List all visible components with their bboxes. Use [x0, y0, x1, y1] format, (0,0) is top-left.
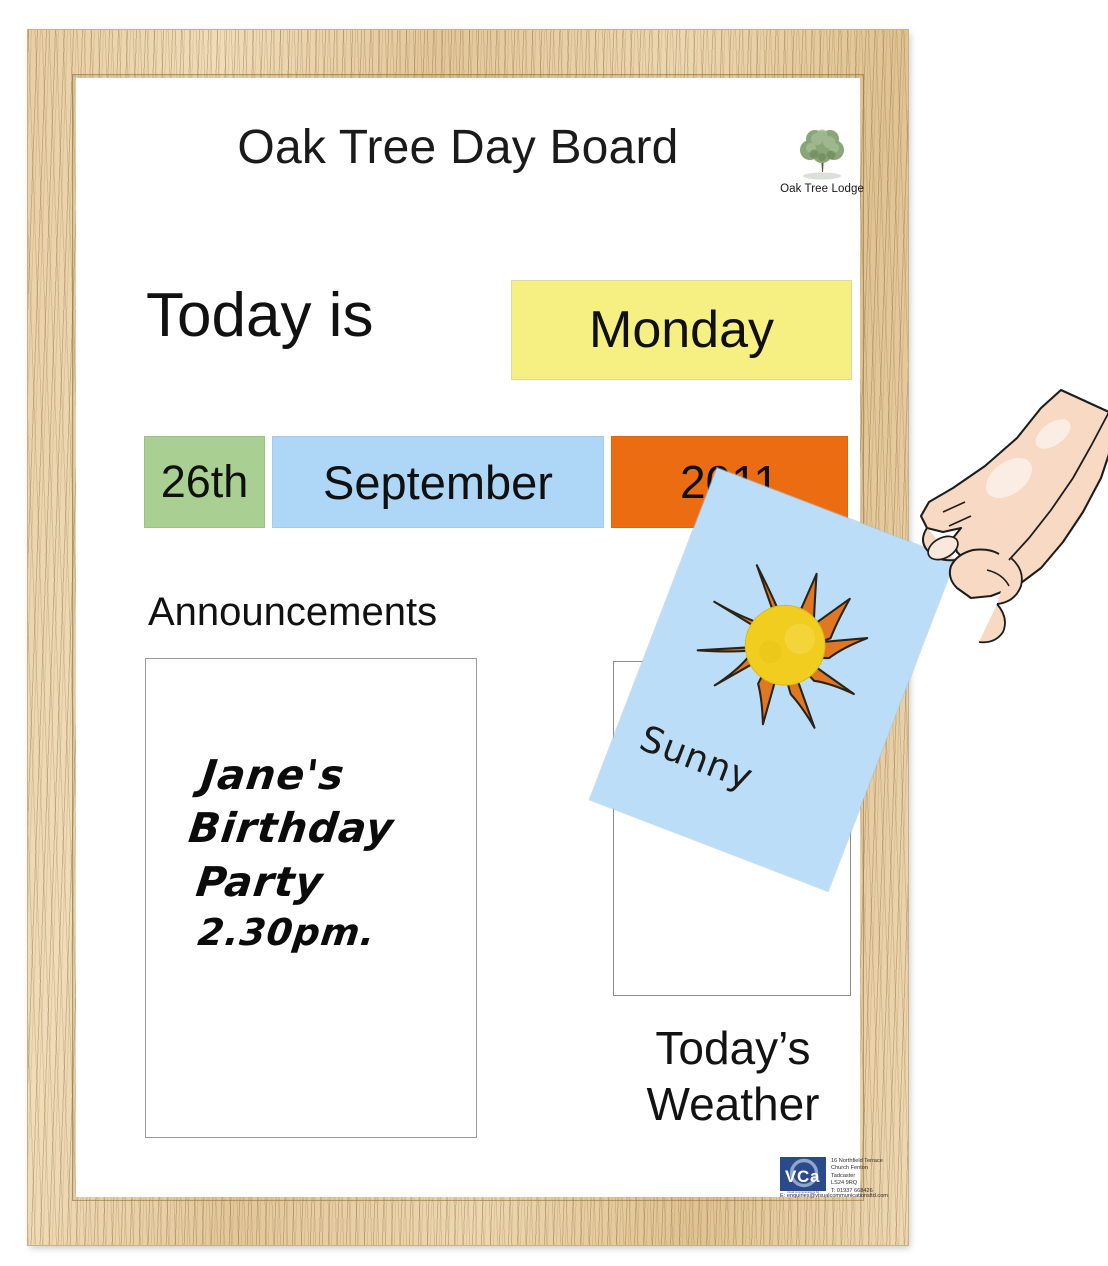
address-line-3: Tadcaster — [831, 1173, 883, 1180]
whiteboard-frame: Oak Tree Day Board Oak Tree Lodge Toda — [28, 30, 908, 1245]
date-month-card[interactable]: September — [272, 436, 604, 528]
date-month-text: September — [323, 455, 553, 510]
weather-caption-line-1: Today’s — [588, 1020, 878, 1076]
address-line-4: LS24 9RQ — [831, 1180, 883, 1187]
announcements-panel[interactable]: Jane's Birthday Party 2.30pm. — [145, 658, 477, 1138]
day-of-week-text: Monday — [589, 300, 774, 360]
svg-text:C: C — [797, 1167, 809, 1186]
weather-caption: Today’s Weather — [588, 1020, 878, 1132]
weather-caption-line-2: Weather — [588, 1076, 878, 1132]
day-of-week-card[interactable]: Monday — [511, 280, 852, 380]
svg-text:a: a — [810, 1167, 820, 1186]
address-line-2: Church Fenton — [831, 1165, 883, 1172]
note-line-1: Jane's — [198, 749, 459, 802]
weather-card-label: Sunny — [634, 718, 758, 798]
note-line-3: Party — [193, 856, 446, 909]
oak-tree-icon — [791, 126, 853, 182]
lodge-name-label: Oak Tree Lodge — [768, 183, 876, 195]
address-line-1: 16 Northfield Terrace — [831, 1158, 883, 1165]
oak-tree-lodge-logo: Oak Tree Lodge — [768, 126, 876, 195]
note-line-4: 2.30pm. — [195, 909, 439, 957]
vca-logo-icon: V C a visual communications ltd — [780, 1157, 826, 1191]
hand-placing-card-icon — [913, 382, 1108, 672]
today-is-label: Today is — [146, 280, 373, 351]
note-line-2: Birthday — [186, 802, 453, 855]
announcement-handwritten-note: Jane's Birthday Party 2.30pm. — [173, 749, 459, 957]
date-day-card[interactable]: 26th — [144, 436, 265, 528]
announcements-heading: Announcements — [148, 590, 437, 635]
date-day-text: 26th — [161, 456, 249, 508]
board-title: Oak Tree Day Board — [138, 120, 778, 175]
svg-text:V: V — [785, 1167, 797, 1186]
sun-icon — [662, 523, 907, 768]
vca-email-line: E: enquiries@visualcommunicationsltd.com — [780, 1193, 888, 1199]
